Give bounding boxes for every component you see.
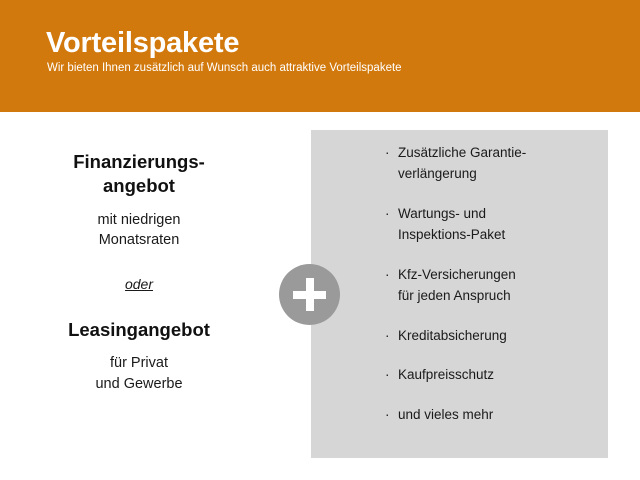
slide-root: Vorteilspakete Wir bieten Ihnen zusätzli… xyxy=(0,0,640,480)
financing-offer-block: Finanzierungs- angebot mit niedrigen Mon… xyxy=(26,150,252,251)
list-item: · Zusätzliche Garantie- verlängerung xyxy=(385,143,585,185)
bullet-glyph: · xyxy=(385,326,390,347)
benefits-list: · Zusätzliche Garantie- verlängerung · W… xyxy=(385,143,585,426)
page-subtitle: Wir bieten Ihnen zusätzlich auf Wunsch a… xyxy=(47,62,402,76)
header-band: Vorteilspakete Wir bieten Ihnen zusätzli… xyxy=(0,0,640,112)
page-title: Vorteilspakete xyxy=(46,28,239,60)
bullet-glyph: · xyxy=(385,143,390,164)
leasing-heading: Leasingangebot xyxy=(26,318,252,342)
benefit-line-1: und vieles mehr xyxy=(398,407,493,422)
or-divider-label: oder xyxy=(26,275,252,295)
financing-heading-line-1: Finanzierungs- xyxy=(73,151,205,172)
plus-icon-bar-vertical xyxy=(306,278,314,311)
benefit-line-1: Kreditabsicherung xyxy=(398,328,507,343)
benefit-line-1: Kfz-Versicherungen xyxy=(398,267,516,282)
bullet-glyph: · xyxy=(385,265,390,286)
bullet-glyph: · xyxy=(385,405,390,426)
bullet-glyph: · xyxy=(385,365,390,386)
benefit-line-1: Zusätzliche Garantie- xyxy=(398,145,526,160)
financing-detail-line-1: mit niedrigen xyxy=(97,212,180,228)
leasing-detail-line-1: für Privat xyxy=(110,355,168,371)
financing-heading-line-2: angebot xyxy=(103,175,175,196)
list-item: · Wartungs- und Inspektions-Paket xyxy=(385,204,585,246)
benefit-line-1: Wartungs- und xyxy=(398,206,486,221)
bullet-glyph: · xyxy=(385,204,390,225)
benefit-line-2: Inspektions-Paket xyxy=(398,227,505,242)
benefit-line-1: Kaufpreisschutz xyxy=(398,367,494,382)
list-item: · Kfz-Versicherungen für jeden Anspruch xyxy=(385,265,585,307)
leasing-offer-block: Leasingangebot für Privat und Gewerbe xyxy=(26,318,252,395)
list-item: · Kreditabsicherung xyxy=(385,326,585,347)
offers-column: Finanzierungs- angebot mit niedrigen Mon… xyxy=(26,150,252,394)
plus-icon xyxy=(279,264,340,325)
list-item: · und vieles mehr xyxy=(385,405,585,426)
leasing-detail: für Privat und Gewerbe xyxy=(26,353,252,394)
financing-detail: mit niedrigen Monatsraten xyxy=(26,210,252,251)
financing-detail-line-2: Monatsraten xyxy=(99,232,180,248)
benefit-line-2: für jeden Anspruch xyxy=(398,288,511,303)
benefit-line-2: verlängerung xyxy=(398,166,477,181)
leasing-detail-line-2: und Gewerbe xyxy=(95,376,182,392)
financing-heading: Finanzierungs- angebot xyxy=(26,150,252,199)
list-item: · Kaufpreisschutz xyxy=(385,365,585,386)
